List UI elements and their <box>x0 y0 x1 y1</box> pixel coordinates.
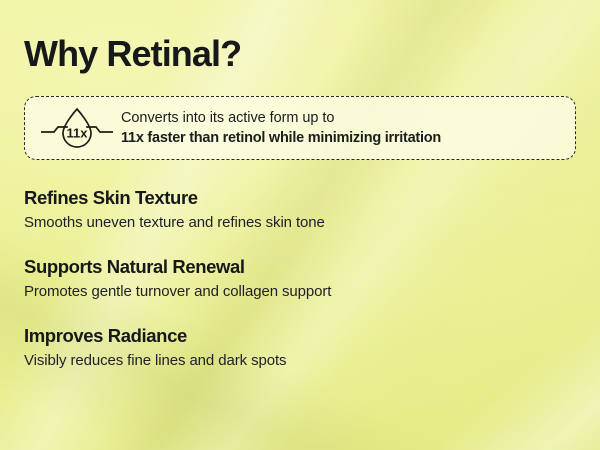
callout-line-1: Converts into its active form up to <box>121 108 441 128</box>
callout-line-2: 11x faster than retinol while minimizing… <box>121 128 441 148</box>
why-retinal-card: Why Retinal? 11x Converts into its activ… <box>0 0 600 450</box>
benefit-item: Refines Skin Texture Smooths uneven text… <box>24 186 576 233</box>
droplet-icon-label: 11x <box>67 126 89 141</box>
benefit-title: Improves Radiance <box>24 324 576 348</box>
callout-text-block: Converts into its active form up to 11x … <box>121 108 441 148</box>
benefit-description: Promotes gentle turnover and collagen su… <box>24 281 576 302</box>
page-title: Why Retinal? <box>24 0 576 76</box>
benefit-item: Supports Natural Renewal Promotes gentle… <box>24 255 576 302</box>
benefit-item: Improves Radiance Visibly reduces fine l… <box>24 324 576 371</box>
benefit-title: Refines Skin Texture <box>24 186 576 210</box>
benefit-title: Supports Natural Renewal <box>24 255 576 279</box>
benefit-list: Refines Skin Texture Smooths uneven text… <box>24 186 576 371</box>
droplet-11x-icon: 11x <box>41 105 113 151</box>
claim-callout-box: 11x Converts into its active form up to … <box>24 96 576 160</box>
content-area: Why Retinal? 11x Converts into its activ… <box>0 0 600 371</box>
benefit-description: Smooths uneven texture and refines skin … <box>24 212 576 233</box>
benefit-description: Visibly reduces fine lines and dark spot… <box>24 350 576 371</box>
